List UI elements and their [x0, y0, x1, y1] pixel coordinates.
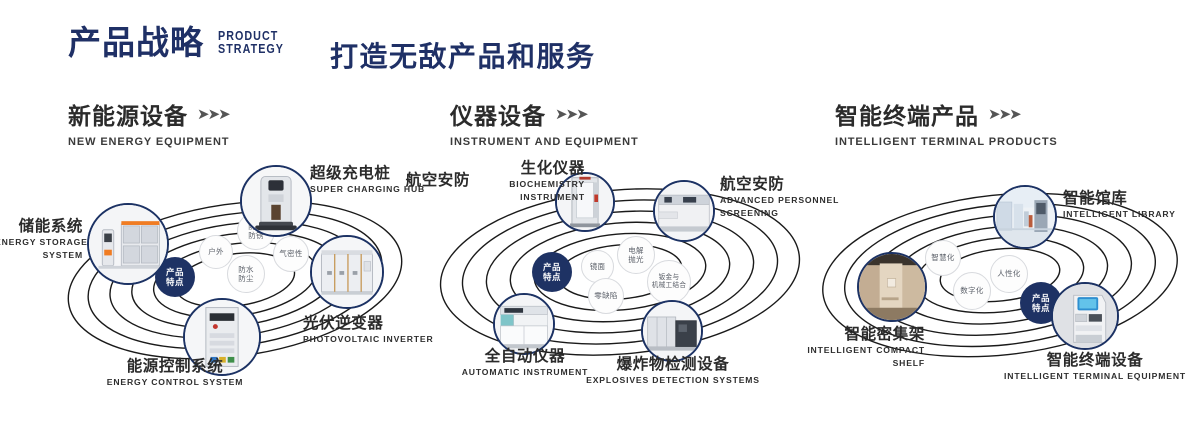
- feature-label: 零缺陷: [594, 291, 617, 300]
- page-title-english: PRODUCT STRATEGY: [218, 30, 284, 56]
- core-line1: 产品: [543, 262, 561, 272]
- section-title-new-energy: 新能源设备 ➤➤➤ NEW ENERGY EQUIPMENT: [68, 97, 229, 148]
- core-line1: 产品: [166, 267, 184, 277]
- node-caption-cn: 智能密集架: [775, 326, 925, 343]
- section-title-cn: 仪器设备 ➤➤➤: [450, 97, 639, 131]
- feature-label: 智慧化: [931, 253, 954, 262]
- node-caption-energy-control: 能源控制系统 ENERGY CONTROL SYSTEM: [85, 358, 265, 388]
- feature-label: 人性化: [997, 269, 1020, 278]
- page-slogan: 打造无敌产品和服务: [330, 35, 596, 75]
- page-title-english-line2: STRATEGY: [218, 43, 284, 56]
- node-caption-en-line1: INTELLIGENT COMPACT: [775, 345, 925, 356]
- charging-hub-photo: [242, 167, 310, 235]
- node-caption-energy-storage: 储能系统 ENERGY STORAGE SYSTEM: [0, 218, 83, 261]
- node-caption-cn: 爆炸物检测设备: [583, 356, 763, 373]
- core-line2: 特点: [543, 272, 561, 282]
- page-title: 产品战略: [68, 26, 204, 59]
- intelligent-library-photo: [995, 187, 1055, 247]
- product-node-energy-storage[interactable]: [87, 203, 169, 285]
- feature-label: 镜面: [590, 262, 606, 271]
- feature-label-line1: 防水: [238, 265, 254, 274]
- section-label: 智能终端产品: [835, 97, 979, 131]
- section-title-en: INSTRUMENT AND EQUIPMENT: [450, 136, 639, 148]
- feature-bubble: 人性化: [990, 255, 1028, 293]
- section-title-instrument: 仪器设备 ➤➤➤ INSTRUMENT AND EQUIPMENT: [450, 97, 639, 148]
- poster-canvas: 产品战略 PRODUCT STRATEGY 打造无敌产品和服务 新能源设备 ➤➤…: [0, 0, 1200, 422]
- node-caption-compact-shelf: 智能密集架 INTELLIGENT COMPACT SHELF: [775, 326, 925, 369]
- feature-label-line1: 钣金与: [652, 274, 686, 282]
- explosives-detection-photo: [643, 302, 701, 360]
- section-title-cn: 新能源设备 ➤➤➤: [68, 97, 229, 131]
- section-title-intelligent-terminal: 智能终端产品 ➤➤➤ INTELLIGENT TERMINAL PRODUCTS: [835, 97, 1058, 148]
- feature-bubble: 数字化: [953, 272, 991, 310]
- core-line2: 特点: [1032, 303, 1050, 313]
- node-caption-en-line1: EXPLOSIVES DETECTION SYSTEMS: [583, 375, 763, 386]
- feature-bubble: 电解 抛光: [617, 236, 655, 274]
- node-caption-cn: 储能系统: [0, 218, 83, 235]
- personnel-screening-photo: [655, 182, 713, 240]
- feature-bubble: 气密性: [273, 236, 309, 272]
- product-node-super-charging-hub[interactable]: [240, 165, 312, 237]
- node-caption-en-line2: SHELF: [775, 358, 925, 369]
- chevron-right-icon: ➤➤➤: [555, 105, 587, 123]
- product-node-explosives-detection[interactable]: [641, 300, 703, 362]
- chevron-right-icon: ➤➤➤: [197, 105, 229, 123]
- node-caption-en-line2: INSTRUMENT: [400, 192, 585, 203]
- cluster-intelligent-terminal: 智慧化 数字化 人性化 产品 特点: [815, 160, 1200, 390]
- product-node-intelligent-library[interactable]: [993, 185, 1057, 249]
- feature-label: 数字化: [960, 286, 983, 295]
- section-label: 新能源设备: [68, 97, 188, 131]
- node-caption-explosives-detection: 爆炸物检测设备 EXPLOSIVES DETECTION SYSTEMS: [583, 356, 763, 386]
- terminal-equipment-photo: [1053, 284, 1117, 348]
- feature-bubble: 智慧化: [925, 240, 961, 276]
- node-caption-en-line1: INTELLIGENT LIBRARY: [1063, 209, 1200, 220]
- node-caption-cn: 航空安防: [380, 172, 470, 189]
- compact-shelf-photo: [859, 254, 925, 320]
- cluster-new-energy: 产品 特点 户外 防腐 防锈 防水 防尘 气密性: [55, 160, 415, 390]
- product-node-compact-shelf[interactable]: [857, 252, 927, 322]
- automatic-instrument-photo: [495, 295, 553, 353]
- node-caption-en-line1: ENERGY STORAGE: [0, 237, 83, 248]
- energy-storage-photo: [89, 205, 167, 283]
- feature-bubble: 零缺陷: [588, 278, 624, 314]
- node-caption-en-line1: ENERGY CONTROL SYSTEM: [85, 377, 265, 388]
- node-caption-en-line1: INTELLIGENT TERMINAL EQUIPMENT: [995, 371, 1195, 382]
- node-caption-en-line2: SYSTEM: [0, 250, 83, 261]
- node-caption-cn: 能源控制系统: [85, 358, 265, 375]
- core-bubble: 产品 特点: [532, 252, 572, 292]
- core-line2: 特点: [166, 277, 184, 287]
- section-title-en: INTELLIGENT TERMINAL PRODUCTS: [835, 136, 1058, 148]
- section-title-en: NEW ENERGY EQUIPMENT: [68, 136, 229, 148]
- section-label: 仪器设备: [450, 97, 546, 131]
- cluster-instrument: 产品 特点 镜面 电解 抛光 零缺陷 钣金与 机械工结合: [425, 160, 815, 390]
- node-caption-aviation-security-left: 航空安防: [380, 172, 470, 189]
- feature-label-line2: 机械工结合: [652, 282, 686, 290]
- feature-label-line2: 抛光: [628, 255, 644, 264]
- pv-inverter-photo: [312, 237, 382, 307]
- feature-bubble: 防水 防尘: [227, 255, 265, 293]
- product-node-personnel-screening[interactable]: [653, 180, 715, 242]
- product-node-terminal-equipment[interactable]: [1051, 282, 1119, 350]
- feature-bubble: 户外: [199, 235, 233, 269]
- feature-label: 户外: [208, 247, 224, 256]
- node-caption-terminal-equipment: 智能终端设备 INTELLIGENT TERMINAL EQUIPMENT: [995, 352, 1195, 382]
- product-node-pv-inverter[interactable]: [310, 235, 384, 309]
- feature-bubble: 钣金与 机械工结合: [647, 260, 691, 304]
- product-node-automatic-instrument[interactable]: [493, 293, 555, 355]
- chevron-right-icon: ➤➤➤: [988, 105, 1020, 123]
- node-caption-intelligent-library: 智能馆库 INTELLIGENT LIBRARY: [1063, 190, 1200, 220]
- page-header: 产品战略 PRODUCT STRATEGY: [68, 26, 295, 59]
- core-line1: 产品: [1032, 293, 1050, 303]
- node-caption-cn: 智能馆库: [1063, 190, 1200, 207]
- feature-label-line1: 电解: [628, 246, 644, 255]
- feature-label-line2: 防尘: [238, 274, 254, 283]
- node-caption-cn: 智能终端设备: [995, 352, 1195, 369]
- feature-label: 气密性: [279, 249, 302, 258]
- section-title-cn: 智能终端产品 ➤➤➤: [835, 97, 1058, 131]
